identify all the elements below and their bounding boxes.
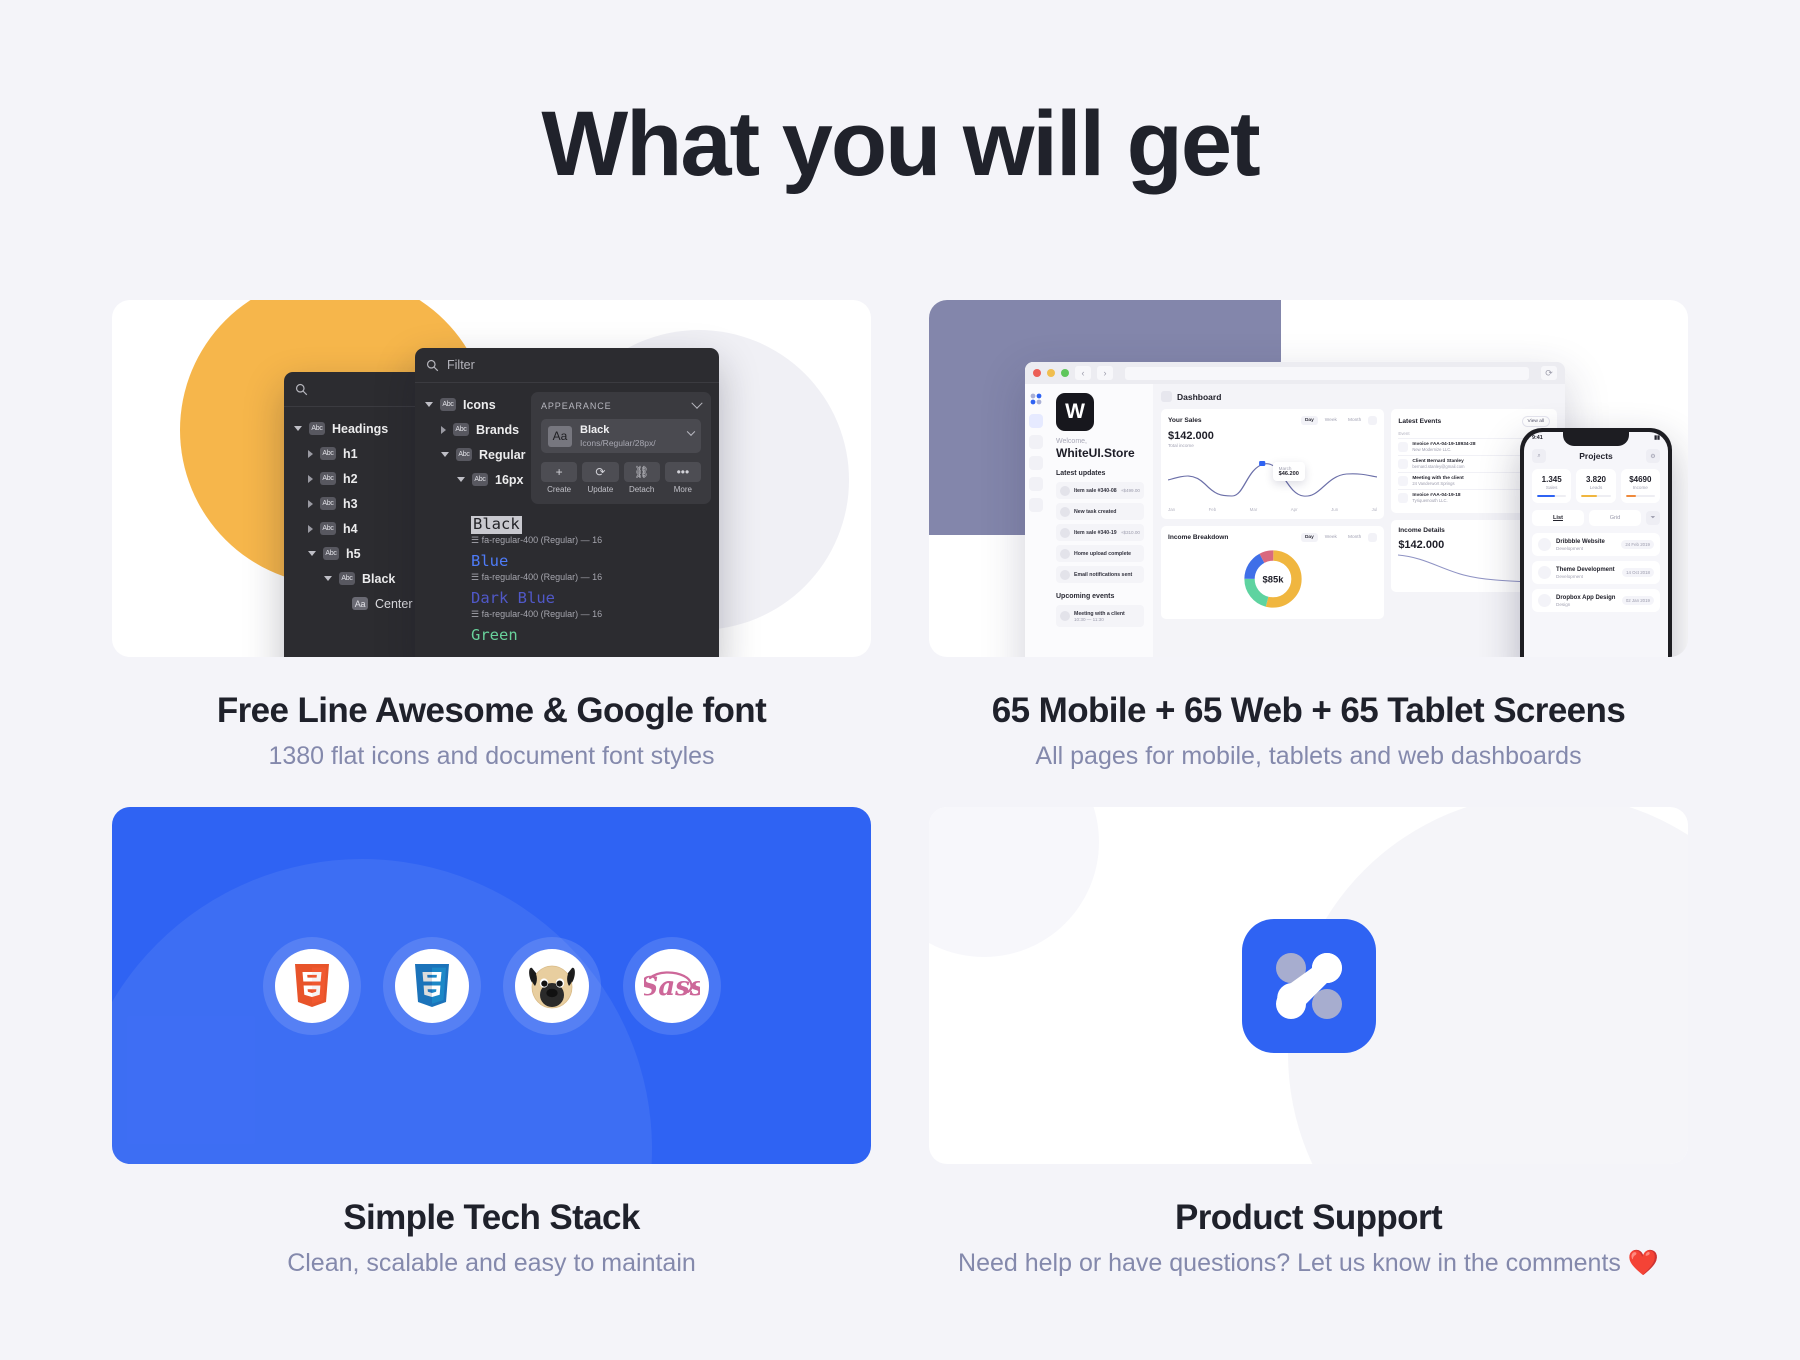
user-icon bbox=[1398, 459, 1408, 469]
axis-tick: Jul bbox=[1372, 507, 1378, 512]
refresh-icon: ⟳ bbox=[582, 462, 618, 482]
font-style-name: Black bbox=[471, 516, 522, 534]
event-row[interactable]: Meeting with a client 10:30 — 11:30 bbox=[1056, 605, 1144, 627]
pug-icon bbox=[526, 962, 578, 1010]
rail-item-briefcase[interactable] bbox=[1029, 435, 1043, 449]
calendar-icon[interactable] bbox=[1368, 416, 1377, 425]
aa-icon: Aa bbox=[352, 597, 368, 610]
widget-header: Latest Events View all bbox=[1398, 416, 1550, 427]
update-row[interactable]: Item sale #340-08 +$499.00 bbox=[1056, 482, 1144, 499]
abc-icon: Abc bbox=[456, 448, 472, 461]
chevron-down-icon bbox=[324, 576, 332, 581]
rail-item-chat[interactable] bbox=[1029, 477, 1043, 491]
font-style-item[interactable]: Green bbox=[471, 627, 602, 645]
close-dot-icon[interactable] bbox=[1033, 369, 1041, 377]
project-name: Dribbble Website bbox=[1556, 539, 1616, 545]
tab-week[interactable]: Week bbox=[1321, 416, 1341, 425]
welcome-label: Welcome, bbox=[1056, 438, 1144, 445]
period-tabs: Day Week Month bbox=[1301, 416, 1377, 425]
feature-cell-stack: Sass Simple Tech Stack Clean, scalable a… bbox=[112, 807, 871, 1278]
event-sub: bernard.stanley@gmail.com bbox=[1412, 464, 1464, 469]
font-style-name: Blue bbox=[471, 553, 508, 571]
update-button[interactable]: ⟳ Update bbox=[582, 462, 618, 494]
chevron-right-icon bbox=[441, 426, 446, 434]
icons-panel[interactable]: Filter Abc Icons Abc bbox=[415, 348, 719, 657]
search-icon[interactable]: ⌕ bbox=[1532, 449, 1546, 463]
button-label: More bbox=[665, 485, 701, 494]
sales-amount: $142.000 bbox=[1168, 430, 1377, 442]
chevron-down-icon bbox=[294, 426, 302, 431]
card-screens: ‹ › ⟳ bbox=[929, 300, 1688, 657]
feature-cell-screens: ‹ › ⟳ bbox=[929, 300, 1688, 771]
avatar bbox=[1060, 570, 1070, 580]
appearance-style-name: Black bbox=[580, 424, 680, 438]
font-style-name: Dark Blue bbox=[471, 590, 555, 608]
browser-titlebar: ‹ › ⟳ bbox=[1025, 362, 1565, 384]
abc-icon: Abc bbox=[320, 447, 336, 460]
button-label: Detach bbox=[624, 485, 660, 494]
card-tech-stack: Sass bbox=[112, 807, 871, 1164]
card-subheading: Clean, scalable and easy to maintain bbox=[112, 1249, 871, 1278]
font-style-meta: ☰ fa-regular-400 (Regular) — 16 bbox=[471, 535, 602, 546]
card-heading: 65 Mobile + 65 Web + 65 Tablet Screens bbox=[929, 691, 1688, 731]
tech-icon-css3 bbox=[383, 937, 481, 1035]
widget-title: Your Sales bbox=[1168, 417, 1202, 424]
event-sub: Tyriquemouth LLC. bbox=[1412, 498, 1460, 503]
update-row[interactable]: Email notifications sent bbox=[1056, 566, 1144, 583]
your-sales-widget: Your Sales Day Week Month bbox=[1161, 409, 1384, 519]
widget-header: Income Breakdown Day Week Month bbox=[1168, 533, 1377, 542]
appearance-buttons: + Create ⟳ Update ⛓ Detach bbox=[541, 462, 701, 494]
stat-label: Sales bbox=[1537, 485, 1566, 490]
avatar bbox=[1060, 611, 1070, 621]
abc-icon: Abc bbox=[440, 398, 456, 411]
font-style-meta: ☰ fa-regular-400 (Regular) — 16 bbox=[471, 572, 602, 583]
tree-item-label: Regular bbox=[479, 448, 526, 462]
calendar-icon[interactable] bbox=[1368, 533, 1377, 542]
card-subheading: 1380 flat icons and document font styles bbox=[112, 742, 871, 771]
maximize-dot-icon[interactable] bbox=[1061, 369, 1069, 377]
font-style-item[interactable]: Dark Blue ☰ fa-regular-400 (Regular) — 1… bbox=[471, 590, 602, 620]
latest-updates-title: Latest updates bbox=[1056, 470, 1144, 477]
tree-item-label: h4 bbox=[343, 522, 358, 536]
event-sub: New Modernize LLC. bbox=[1412, 447, 1475, 452]
calendar-icon bbox=[1398, 476, 1408, 486]
store-logo: W bbox=[1056, 393, 1094, 431]
tech-icon-html5 bbox=[263, 937, 361, 1035]
phone-stats: 1.345 Sales 3.820 Leads bbox=[1524, 469, 1668, 503]
phone-screen: 9:41 ▮▮ ⌕ Projects ⚙ 1.345 bbox=[1524, 432, 1668, 657]
update-row[interactable]: Item sale #340-19 +$310.00 bbox=[1056, 524, 1144, 541]
tab-grid[interactable]: Grid bbox=[1589, 510, 1641, 526]
tech-icon-pug bbox=[503, 937, 601, 1035]
settings-icon[interactable]: ⚙ bbox=[1646, 449, 1660, 463]
status-icons: ▮▮ bbox=[1654, 435, 1660, 441]
view-all-button[interactable]: View all bbox=[1522, 416, 1550, 427]
page-title: What you will get bbox=[0, 0, 1800, 193]
abc-icon: Abc bbox=[320, 472, 336, 485]
project-item[interactable]: Dropbox App Design Design 02 Jan 2019 bbox=[1532, 589, 1660, 612]
project-item[interactable]: Dribbble Website Development 24 Feb 2019 bbox=[1532, 533, 1660, 556]
create-button[interactable]: + Create bbox=[541, 462, 577, 494]
dashboard-columns: Your Sales Day Week Month bbox=[1161, 409, 1557, 626]
html5-icon bbox=[292, 964, 332, 1008]
card-support bbox=[929, 807, 1688, 1164]
card-subheading: Need help or have questions? Let us know… bbox=[929, 1249, 1688, 1278]
dashboard-sidebar: W Welcome, WhiteUI.Store Latest updates … bbox=[1047, 384, 1153, 657]
button-label: Create bbox=[541, 485, 577, 494]
chevron-down-icon bbox=[425, 402, 433, 407]
rail-item-reports[interactable] bbox=[1029, 498, 1043, 512]
appearance-style-row[interactable]: Aa Black Icons/Regular/28px/ bbox=[541, 419, 701, 453]
chevron-down-icon bbox=[457, 477, 465, 482]
project-date: 24 Feb 2019 bbox=[1621, 540, 1654, 549]
card-heading: Product Support bbox=[929, 1198, 1688, 1238]
tree-item-label: Headings bbox=[332, 422, 388, 436]
tech-icon-row: Sass bbox=[112, 807, 871, 1164]
widget-title: Income Details bbox=[1398, 527, 1445, 534]
tree-item-label: h1 bbox=[343, 447, 358, 461]
stat-value: $4690 bbox=[1626, 475, 1655, 484]
income-breakdown-widget: Income Breakdown Day Week Month bbox=[1161, 526, 1384, 619]
update-text: New task created bbox=[1074, 509, 1136, 515]
abc-icon: Abc bbox=[320, 522, 336, 535]
update-text: Item sale #340-08 bbox=[1074, 488, 1117, 494]
widget-title: Latest Events bbox=[1398, 418, 1441, 425]
whiteui-logo-icon bbox=[1242, 919, 1376, 1053]
avatar bbox=[1060, 507, 1070, 517]
tab-day[interactable]: Day bbox=[1301, 416, 1318, 425]
chevron-down-icon bbox=[687, 428, 695, 436]
project-avatar bbox=[1538, 538, 1551, 551]
update-text: Home upload complete bbox=[1074, 551, 1136, 557]
chevron-right-icon bbox=[308, 500, 313, 508]
project-avatar bbox=[1538, 594, 1551, 607]
project-category: Development bbox=[1556, 546, 1616, 551]
font-style-list: Black ☰ fa-regular-400 (Regular) — 16 Bl… bbox=[471, 516, 602, 652]
minimize-dot-icon[interactable] bbox=[1047, 369, 1055, 377]
forward-button[interactable]: › bbox=[1097, 366, 1113, 380]
sales-axis: Jan Feb Mar Apr Jun Jul bbox=[1168, 507, 1377, 512]
circle-decor-secondary bbox=[929, 807, 1099, 957]
sales-amount-label: Total income bbox=[1168, 443, 1377, 448]
font-style-item[interactable]: Black ☰ fa-regular-400 (Regular) — 16 bbox=[471, 516, 602, 546]
chevron-down-icon bbox=[308, 551, 316, 556]
dashboard-main: Dashboard Your Sales Day bbox=[1153, 384, 1565, 657]
stat-card-sales: 1.345 Sales bbox=[1532, 469, 1571, 503]
feature-cell-fonts: Abc Headings Abc h1 Abc h2 bbox=[112, 300, 871, 771]
document-icon bbox=[1398, 493, 1408, 503]
stat-value: 3.820 bbox=[1581, 475, 1610, 484]
widget-title: Income Breakdown bbox=[1168, 534, 1228, 541]
caption-support: Product Support Need help or have questi… bbox=[929, 1198, 1688, 1278]
axis-tick: Jun bbox=[1331, 507, 1338, 512]
tech-icon-sass: Sass bbox=[623, 937, 721, 1035]
abc-icon: Abc bbox=[472, 473, 488, 486]
appearance-header[interactable]: APPEARANCE bbox=[541, 401, 701, 411]
appearance-label: APPEARANCE bbox=[541, 401, 612, 411]
donut-center-value: $85k bbox=[1262, 575, 1284, 586]
font-style-item[interactable]: Blue ☰ fa-regular-400 (Regular) — 16 bbox=[471, 553, 602, 583]
tree-item-label: 16px bbox=[495, 473, 524, 487]
update-text: Item sale #340-19 bbox=[1074, 530, 1117, 536]
stat-card-income: $4690 Income bbox=[1621, 469, 1660, 503]
browser-viewport: W Welcome, WhiteUI.Store Latest updates … bbox=[1025, 384, 1565, 657]
card-fonts: Abc Headings Abc h1 Abc h2 bbox=[112, 300, 871, 657]
upcoming-events-title: Upcoming events bbox=[1056, 593, 1144, 600]
search-icon bbox=[295, 383, 308, 396]
feature-grid: Abc Headings Abc h1 Abc h2 bbox=[112, 300, 1688, 1278]
dashboard-title: Dashboard bbox=[1177, 392, 1221, 402]
phone-title: Projects bbox=[1579, 451, 1613, 461]
stat-label: Income bbox=[1626, 485, 1655, 490]
abc-icon: Abc bbox=[320, 497, 336, 510]
stat-bar bbox=[1581, 495, 1610, 497]
update-row[interactable]: Home upload complete bbox=[1056, 545, 1144, 562]
chevron-down-icon bbox=[691, 398, 702, 409]
plus-icon: + bbox=[541, 462, 577, 482]
feature-cell-support: Product Support Need help or have questi… bbox=[929, 807, 1688, 1278]
caption-screens: 65 Mobile + 65 Web + 65 Tablet Screens A… bbox=[929, 691, 1688, 771]
store-name: WhiteUI.Store bbox=[1056, 446, 1144, 460]
update-value: +$499.00 bbox=[1121, 488, 1140, 493]
css3-icon bbox=[412, 964, 452, 1008]
font-style-meta: ☰ fa-regular-400 (Regular) — 16 bbox=[471, 609, 602, 620]
axis-tick: Feb bbox=[1209, 507, 1217, 512]
status-time: 9:41 bbox=[1532, 435, 1543, 441]
search-icon bbox=[426, 359, 439, 372]
detach-button[interactable]: ⛓ Detach bbox=[624, 462, 660, 494]
tree-item-label: Icons bbox=[463, 398, 496, 412]
chart-tooltip: March $46.200 bbox=[1273, 462, 1305, 481]
abc-icon: Abc bbox=[323, 547, 339, 560]
axis-tick: Mar bbox=[1250, 507, 1258, 512]
update-row[interactable]: New task created bbox=[1056, 503, 1144, 520]
caption-fonts: Free Line Awesome & Google font 1380 fla… bbox=[112, 691, 871, 771]
event-sub: 24 Vanderwort Springs bbox=[1412, 481, 1463, 486]
caption-stack: Simple Tech Stack Clean, scalable and ea… bbox=[112, 1198, 871, 1278]
filter-icon[interactable]: ⏷ bbox=[1646, 511, 1660, 525]
column-event: Event bbox=[1398, 431, 1409, 436]
appearance-section: APPEARANCE Aa Black Icons/Regular/28px/ bbox=[531, 392, 711, 504]
project-name: Theme Development bbox=[1556, 567, 1617, 573]
tree-item-label: h2 bbox=[343, 472, 358, 486]
avatar bbox=[1060, 528, 1070, 538]
tree-item-label: Black bbox=[362, 572, 395, 586]
tab-list[interactable]: List bbox=[1532, 510, 1584, 526]
tree-item-label: h3 bbox=[343, 497, 358, 511]
document-icon bbox=[1398, 442, 1408, 452]
aa-icon: Aa bbox=[548, 426, 572, 447]
stat-bar bbox=[1626, 495, 1655, 497]
card-heading: Simple Tech Stack bbox=[112, 1198, 871, 1238]
chevron-right-icon bbox=[308, 525, 313, 533]
stat-label: Leads bbox=[1581, 485, 1610, 490]
abc-icon: Abc bbox=[339, 572, 355, 585]
period-tabs: Day Week Month bbox=[1301, 533, 1377, 542]
dashboard-topbar: Dashboard bbox=[1161, 391, 1557, 402]
sass-icon: Sass bbox=[644, 968, 700, 1004]
appearance-style-path: Icons/Regular/28px/ bbox=[580, 438, 680, 449]
tree-item-label: Brands bbox=[476, 423, 519, 437]
feature-row-2: Sass Simple Tech Stack Clean, scalable a… bbox=[112, 807, 1688, 1278]
chevron-down-icon bbox=[441, 452, 449, 457]
back-button[interactable]: ‹ bbox=[1075, 366, 1091, 380]
dashboard-col-left: Your Sales Day Week Month bbox=[1161, 409, 1384, 626]
browser-mockup: ‹ › ⟳ bbox=[1025, 362, 1565, 657]
card-subheading: All pages for mobile, tablets and web da… bbox=[929, 742, 1688, 771]
project-category: Design bbox=[1556, 602, 1617, 607]
stat-value: 1.345 bbox=[1537, 475, 1566, 484]
button-label: Update bbox=[582, 485, 618, 494]
card-heading: Free Line Awesome & Google font bbox=[112, 691, 871, 731]
axis-tick: Jan bbox=[1168, 507, 1175, 512]
tab-week[interactable]: Week bbox=[1321, 533, 1341, 542]
donut-chart: $85k bbox=[1168, 542, 1377, 612]
update-text: Email notifications sent bbox=[1074, 572, 1136, 578]
font-style-name: Green bbox=[471, 627, 518, 645]
filter-placeholder: Filter bbox=[447, 358, 475, 372]
avatar bbox=[1060, 486, 1070, 496]
tree-item-label: Center bbox=[375, 597, 413, 611]
stat-card-leads: 3.820 Leads bbox=[1576, 469, 1615, 503]
more-button[interactable]: ••• More bbox=[665, 462, 701, 494]
widget-header: Your Sales Day Week Month bbox=[1168, 416, 1377, 425]
chevron-right-icon bbox=[308, 475, 313, 483]
abc-icon: Abc bbox=[309, 422, 325, 435]
chevron-right-icon bbox=[308, 450, 313, 458]
app-rail bbox=[1025, 384, 1047, 657]
ellipsis-icon: ••• bbox=[665, 462, 701, 482]
tab-month[interactable]: Month bbox=[1344, 416, 1365, 425]
project-date: 14 Oct 2018 bbox=[1622, 568, 1654, 577]
stat-bar bbox=[1537, 495, 1566, 497]
project-item[interactable]: Theme Development Development 14 Oct 201… bbox=[1532, 561, 1660, 584]
page-root: What you will get bbox=[0, 0, 1800, 1360]
phone-view-tabs: List Grid ⏷ bbox=[1524, 503, 1668, 533]
reload-icon[interactable]: ⟳ bbox=[1541, 366, 1557, 380]
update-value: +$310.00 bbox=[1121, 530, 1140, 535]
broken-link-icon: ⛓ bbox=[624, 462, 660, 482]
feature-row-1: Abc Headings Abc h1 Abc h2 bbox=[112, 300, 1688, 771]
phone-notch bbox=[1563, 432, 1629, 446]
app-logo-icon bbox=[1029, 392, 1043, 406]
tooltip-value: $46.200 bbox=[1279, 471, 1299, 477]
project-date: 02 Jan 2019 bbox=[1622, 596, 1654, 605]
axis-tick: Apr bbox=[1291, 507, 1298, 512]
rail-item-dashboard[interactable] bbox=[1029, 414, 1043, 428]
tree-item-label: h5 bbox=[346, 547, 361, 561]
phone-mockup: 9:41 ▮▮ ⌕ Projects ⚙ 1.345 bbox=[1520, 428, 1672, 657]
menu-icon[interactable] bbox=[1161, 391, 1172, 402]
tab-day[interactable]: Day bbox=[1301, 533, 1318, 542]
address-bar[interactable] bbox=[1125, 367, 1529, 380]
event-sub: 10:30 — 11:30 bbox=[1074, 617, 1140, 622]
project-name: Dropbox App Design bbox=[1556, 595, 1617, 601]
abc-icon: Abc bbox=[453, 423, 469, 436]
tab-month[interactable]: Month bbox=[1344, 533, 1365, 542]
avatar bbox=[1060, 549, 1070, 559]
sales-chart: March $46.200 bbox=[1168, 450, 1377, 504]
rail-item-files[interactable] bbox=[1029, 456, 1043, 470]
project-avatar bbox=[1538, 566, 1551, 579]
panel-filter-row[interactable]: Filter bbox=[415, 348, 719, 382]
project-category: Development bbox=[1556, 574, 1617, 579]
